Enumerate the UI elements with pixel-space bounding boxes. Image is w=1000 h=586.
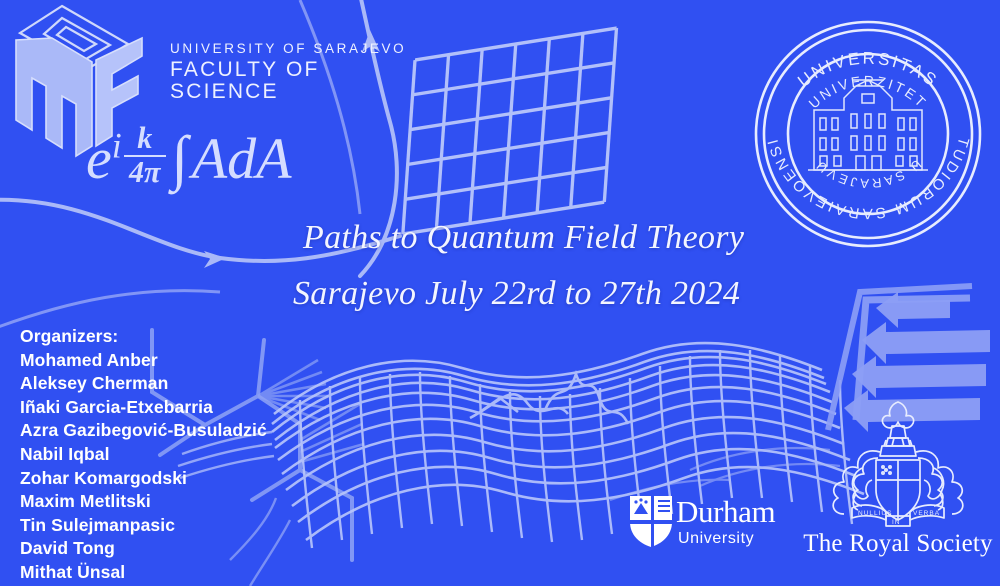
list-item: Nabil Iqbal	[20, 443, 350, 467]
royal-society-logo: NULLIUS VERBA IN The Royal Society	[800, 398, 996, 574]
lattice-grid-icon	[403, 28, 617, 234]
page-subtitle-dateline: Sarajevo July 22rd to 27th 2024	[293, 275, 740, 313]
feynman-path-arrowhead-icon	[204, 251, 226, 268]
list-item: Tin Sulejmanpasic	[20, 514, 350, 538]
svg-text:VERBA: VERBA	[913, 510, 940, 517]
royal-society-shield-charges-icon	[881, 465, 892, 475]
royal-society-name: The Royal Society	[800, 530, 996, 558]
formula-fraction: k4π	[124, 123, 166, 188]
formula-integrand: AdA	[192, 126, 292, 191]
list-item: David Tong	[20, 537, 350, 561]
durham-subtitle: University	[678, 530, 754, 548]
formula-numerator: k	[124, 123, 166, 157]
formula-base: e	[86, 126, 112, 191]
formula-integral-sign: ∫	[168, 125, 192, 192]
organizers-heading: Organizers:	[20, 325, 350, 349]
svg-text:NULLIUS: NULLIUS	[858, 510, 892, 517]
page-title: Paths to Quantum Field Theory	[303, 219, 744, 257]
seal-inner-bottom-text: U SARAJEVU	[812, 157, 925, 192]
list-item: Maxim Metlitski	[20, 490, 350, 514]
organizers-list: Mohamed Anber Aleksey Cherman Iñaki Garc…	[20, 349, 350, 585]
wordmark-line-faculty: FACULTY OF SCIENCE	[170, 59, 430, 103]
university-wordmark: UNIVERSITY OF SARAJEVO FACULTY OF SCIENC…	[170, 42, 430, 103]
organizers-block: Organizers: Mohamed Anber Aleksey Cherma…	[20, 325, 350, 585]
wordmark-line-university: UNIVERSITY OF SARAJEVO	[170, 42, 430, 56]
royal-society-motto-text: NULLIUS VERBA IN	[858, 510, 940, 526]
list-item: Mohamed Anber	[20, 349, 350, 373]
university-of-sarajevo-seal-icon: UNIVERSITAS STUDIORUM SARAIEVOENSIS UNIV…	[748, 10, 988, 255]
chern-simons-formula: eik4π∫AdA	[86, 124, 292, 197]
formula-exponent-i: i	[112, 126, 122, 166]
svg-text:IN: IN	[892, 519, 901, 526]
durham-university-logo: Durham University	[628, 494, 773, 560]
list-item: Iñaki Garcia-Etxebarria	[20, 396, 350, 420]
list-item: Aleksey Cherman	[20, 372, 350, 396]
list-item: Zohar Komargodski	[20, 467, 350, 491]
list-item: Azra Gazibegović-Busuladzić	[20, 419, 350, 443]
durham-shield-icon	[628, 494, 674, 548]
royal-society-crest-icon: NULLIUS VERBA IN	[800, 398, 996, 532]
list-item: Mithat Ünsal	[20, 561, 350, 585]
conference-poster: UNIVERSITY OF SARAJEVO FACULTY OF SCIENC…	[0, 0, 1000, 586]
formula-denominator: 4π	[124, 157, 166, 189]
durham-name: Durham	[676, 496, 775, 527]
